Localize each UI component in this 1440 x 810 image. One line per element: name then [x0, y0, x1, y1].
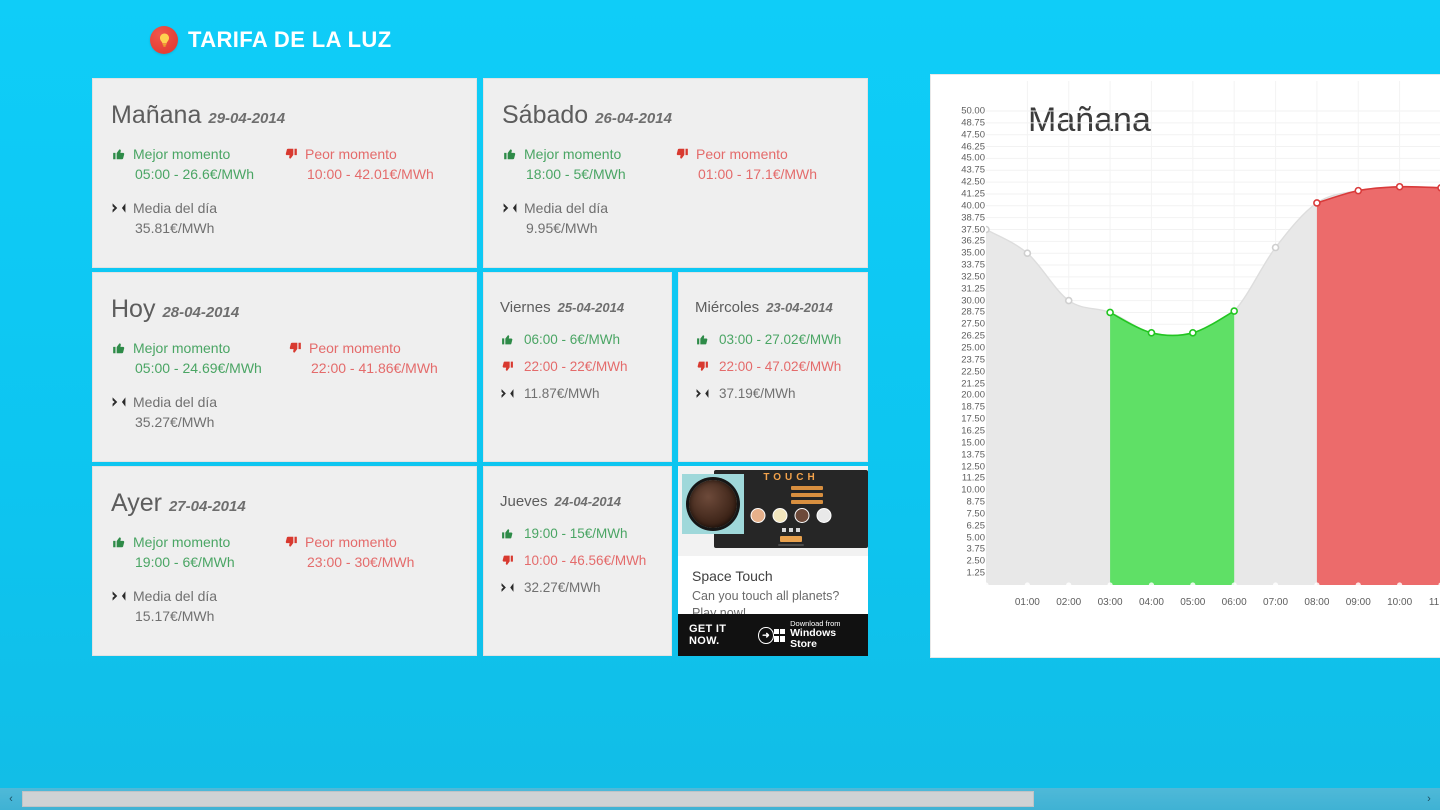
thumbs-down-icon: [287, 341, 302, 355]
best-moment-value: 06:00 - 6€/MWh: [524, 332, 620, 347]
worst-moment-row: 10:00 - 46.56€/MWh: [500, 553, 671, 568]
day-card-hoy[interactable]: Hoy 28-04-2014 Mejor momento 05:00: [92, 272, 477, 462]
horizontal-scrollbar[interactable]: ‹ ›: [0, 788, 1440, 810]
best-moment-block: Mejor momento 05:00 - 26.6€/MWh: [111, 144, 283, 186]
average-arrows-icon: [111, 590, 126, 602]
average-label: Media del día: [133, 586, 217, 606]
best-moment-row: 03:00 - 27.02€/MWh: [695, 332, 867, 347]
day-card-manana[interactable]: Mañana 29-04-2014 Mejor momento 05:: [92, 78, 477, 268]
ad-dots: [782, 528, 800, 532]
thumbs-up-icon: [502, 147, 517, 161]
days-grid: Mañana 29-04-2014 Mejor momento 05:: [92, 78, 873, 656]
worst-moment-row: 22:00 - 22€/MWh: [500, 359, 671, 374]
average-label: Media del día: [133, 198, 217, 218]
thumbs-down-icon: [283, 147, 298, 161]
thumbs-up-icon: [111, 147, 126, 161]
average-row: 11.87€/MWh: [500, 386, 671, 401]
average-value: 11.87€/MWh: [524, 386, 600, 401]
day-date: 25-04-2014: [558, 300, 625, 315]
best-moment-block: Mejor momento 05:00 - 24.69€/MWh: [111, 338, 287, 380]
ad-score-bars: [757, 486, 823, 507]
worst-moment-label: Peor momento: [305, 144, 397, 164]
best-moment-label: Mejor momento: [133, 338, 230, 358]
lightbulb-icon: [150, 26, 178, 54]
card-header: Hoy 28-04-2014: [111, 295, 476, 324]
day-date: 24-04-2014: [555, 494, 622, 509]
scroll-right-arrow-icon[interactable]: ›: [1418, 788, 1440, 810]
thumbs-up-icon: [111, 341, 126, 355]
card-header: Jueves 24-04-2014: [500, 493, 671, 510]
worst-moment-value: 22:00 - 41.86€/MWh: [287, 358, 459, 380]
thumbs-up-icon: [111, 535, 126, 549]
scrollbar-thumb[interactable]: [22, 791, 1034, 807]
average-value: 9.95€/MWh: [502, 218, 867, 240]
price-chart-panel[interactable]: Mañana 50.0048.7547.5046.2545.0043.7542.…: [930, 74, 1440, 658]
thumbs-up-icon: [695, 333, 710, 346]
chart-x-tick: 11:00: [1429, 597, 1440, 608]
worst-moment-label: Peor momento: [696, 144, 788, 164]
average-arrows-icon: [502, 202, 517, 214]
best-moment-value: 19:00 - 15€/MWh: [524, 526, 628, 541]
day-date: 28-04-2014: [162, 304, 239, 321]
average-row: 32.27€/MWh: [500, 580, 671, 595]
app-header: TARIFA DE LA LUZ: [150, 26, 392, 54]
average-row: 37.19€/MWh: [695, 386, 867, 401]
best-moment-row: 19:00 - 15€/MWh: [500, 526, 671, 541]
worst-moment-block: Peor momento 22:00 - 41.86€/MWh: [287, 338, 459, 380]
worst-moment-value: 10:00 - 42.01€/MWh: [283, 164, 455, 186]
day-card-viernes[interactable]: Viernes 25-04-2014 06:00 - 6€/MWh: [483, 272, 672, 462]
thumbs-up-icon: [500, 527, 515, 540]
best-moment-value: 03:00 - 27.02€/MWh: [719, 332, 841, 347]
page-title: TARIFA DE LA LUZ: [188, 29, 392, 51]
thumbs-up-icon: [500, 333, 515, 346]
app-root: TARIFA DE LA LUZ Mañana 29-04-2014: [0, 0, 1440, 810]
best-moment-value: 05:00 - 26.6€/MWh: [111, 164, 283, 186]
thumbs-down-icon: [695, 360, 710, 373]
average-block: Media del día 9.95€/MWh: [502, 198, 867, 240]
ad-description-line1: Can you touch all planets?: [692, 588, 854, 605]
average-arrows-icon: [111, 396, 126, 408]
thumbs-down-icon: [283, 535, 298, 549]
chart-x-tick: 05:00: [1180, 597, 1205, 608]
worst-moment-value: 10:00 - 46.56€/MWh: [524, 553, 646, 568]
average-label: Media del día: [133, 392, 217, 412]
chart-x-tick: 01:00: [1015, 597, 1040, 608]
day-name: Hoy: [111, 295, 155, 324]
ad-app-name: Space Touch: [692, 568, 854, 584]
ad-footer[interactable]: GET IT NOW. ➜ Download from Windows Stor…: [678, 614, 868, 656]
day-card-jueves[interactable]: Jueves 24-04-2014 19:00 - 15€/MWh: [483, 466, 672, 656]
day-date: 26-04-2014: [595, 110, 672, 127]
day-name: Jueves: [500, 493, 548, 510]
arrow-right-icon: ➜: [758, 627, 773, 644]
day-name: Viernes: [500, 299, 551, 316]
ad-thumbnail: [682, 474, 744, 534]
chart-x-tick: 08:00: [1304, 597, 1329, 608]
worst-moment-label: Peor momento: [309, 338, 401, 358]
thumbs-down-icon: [500, 360, 515, 373]
windows-store-badge[interactable]: Download from Windows Store: [774, 620, 857, 650]
average-block: Media del día 15.17€/MWh: [111, 586, 476, 628]
average-arrows-icon: [500, 388, 515, 399]
average-value: 15.17€/MWh: [111, 606, 476, 628]
chart-x-tick: 09:00: [1346, 597, 1371, 608]
average-block: Media del día 35.27€/MWh: [111, 392, 476, 434]
average-arrows-icon: [500, 582, 515, 593]
best-moment-label: Mejor momento: [133, 532, 230, 552]
thumbs-down-icon: [674, 147, 689, 161]
best-moment-label: Mejor momento: [133, 144, 230, 164]
worst-moment-value: 01:00 - 17.1€/MWh: [674, 164, 846, 186]
chart-x-tick: 10:00: [1387, 597, 1412, 608]
chart-x-tick: 07:00: [1263, 597, 1288, 608]
day-name: Mañana: [111, 101, 201, 130]
windows-logo-icon: [774, 629, 785, 642]
card-header: Miércoles 23-04-2014: [695, 299, 867, 316]
worst-moment-row: 22:00 - 47.02€/MWh: [695, 359, 867, 374]
chart-x-tick: 06:00: [1222, 597, 1247, 608]
ad-store-big-label: Windows Store: [790, 628, 857, 650]
average-label: Media del día: [524, 198, 608, 218]
day-name: Sábado: [502, 101, 588, 130]
worst-moment-value: 23:00 - 30€/MWh: [283, 552, 455, 574]
day-date: 29-04-2014: [208, 110, 285, 127]
ad-inner-button: [780, 536, 802, 542]
ad-screenshot: TOUCH: [678, 466, 868, 556]
ad-get-it-now-button[interactable]: GET IT NOW. ➜: [689, 623, 774, 647]
chart-x-tick: 02:00: [1056, 597, 1081, 608]
day-card-miercoles[interactable]: Miércoles 23-04-2014 03:00 - 27.02€/MWh: [678, 272, 868, 462]
card-header: Mañana 29-04-2014: [111, 101, 476, 130]
best-moment-value: 18:00 - 5€/MWh: [502, 164, 674, 186]
worst-moment-block: Peor momento 23:00 - 30€/MWh: [283, 532, 455, 574]
card-header: Ayer 27-04-2014: [111, 489, 476, 518]
ad-cta-label: GET IT NOW.: [689, 623, 751, 647]
average-block: Media del día 35.81€/MWh: [111, 198, 476, 240]
worst-moment-block: Peor momento 01:00 - 17.1€/MWh: [674, 144, 846, 186]
best-moment-block: Mejor momento 19:00 - 6€/MWh: [111, 532, 283, 574]
thumbs-down-icon: [500, 554, 515, 567]
day-name: Miércoles: [695, 299, 759, 316]
chart-x-tick: 04:00: [1139, 597, 1164, 608]
day-card-sabado[interactable]: Sábado 26-04-2014 Mejor momento 18:: [483, 78, 868, 268]
best-moment-value: 19:00 - 6€/MWh: [111, 552, 283, 574]
best-moment-label: Mejor momento: [524, 144, 621, 164]
worst-moment-label: Peor momento: [305, 532, 397, 552]
scroll-left-arrow-icon[interactable]: ‹: [0, 788, 22, 810]
ad-planets-row: [751, 508, 832, 523]
average-arrows-icon: [695, 388, 710, 399]
day-date: 23-04-2014: [766, 300, 833, 315]
average-value: 37.19€/MWh: [719, 386, 796, 401]
average-value: 35.81€/MWh: [111, 218, 476, 240]
best-moment-row: 06:00 - 6€/MWh: [500, 332, 671, 347]
day-name: Ayer: [111, 489, 162, 518]
day-date: 27-04-2014: [169, 498, 246, 515]
scrollbar-track[interactable]: [22, 791, 1418, 807]
ad-tile[interactable]: TOUCH: [678, 466, 868, 656]
best-moment-value: 05:00 - 24.69€/MWh: [111, 358, 287, 380]
worst-moment-block: Peor momento 10:00 - 42.01€/MWh: [283, 144, 455, 186]
planet-icon: [689, 480, 737, 528]
chart-x-axis: 01:0002:0003:0004:0005:0006:0007:0008:00…: [931, 75, 1440, 657]
worst-moment-value: 22:00 - 47.02€/MWh: [719, 359, 841, 374]
average-value: 35.27€/MWh: [111, 412, 476, 434]
best-moment-block: Mejor momento 18:00 - 5€/MWh: [502, 144, 674, 186]
worst-moment-value: 22:00 - 22€/MWh: [524, 359, 628, 374]
average-value: 32.27€/MWh: [524, 580, 601, 595]
day-card-ayer[interactable]: Ayer 27-04-2014 Mejor momento 19:00: [92, 466, 477, 656]
card-header: Sábado 26-04-2014: [502, 101, 867, 130]
card-header: Viernes 25-04-2014: [500, 299, 671, 316]
chart-x-tick: 03:00: [1098, 597, 1123, 608]
average-arrows-icon: [111, 202, 126, 214]
